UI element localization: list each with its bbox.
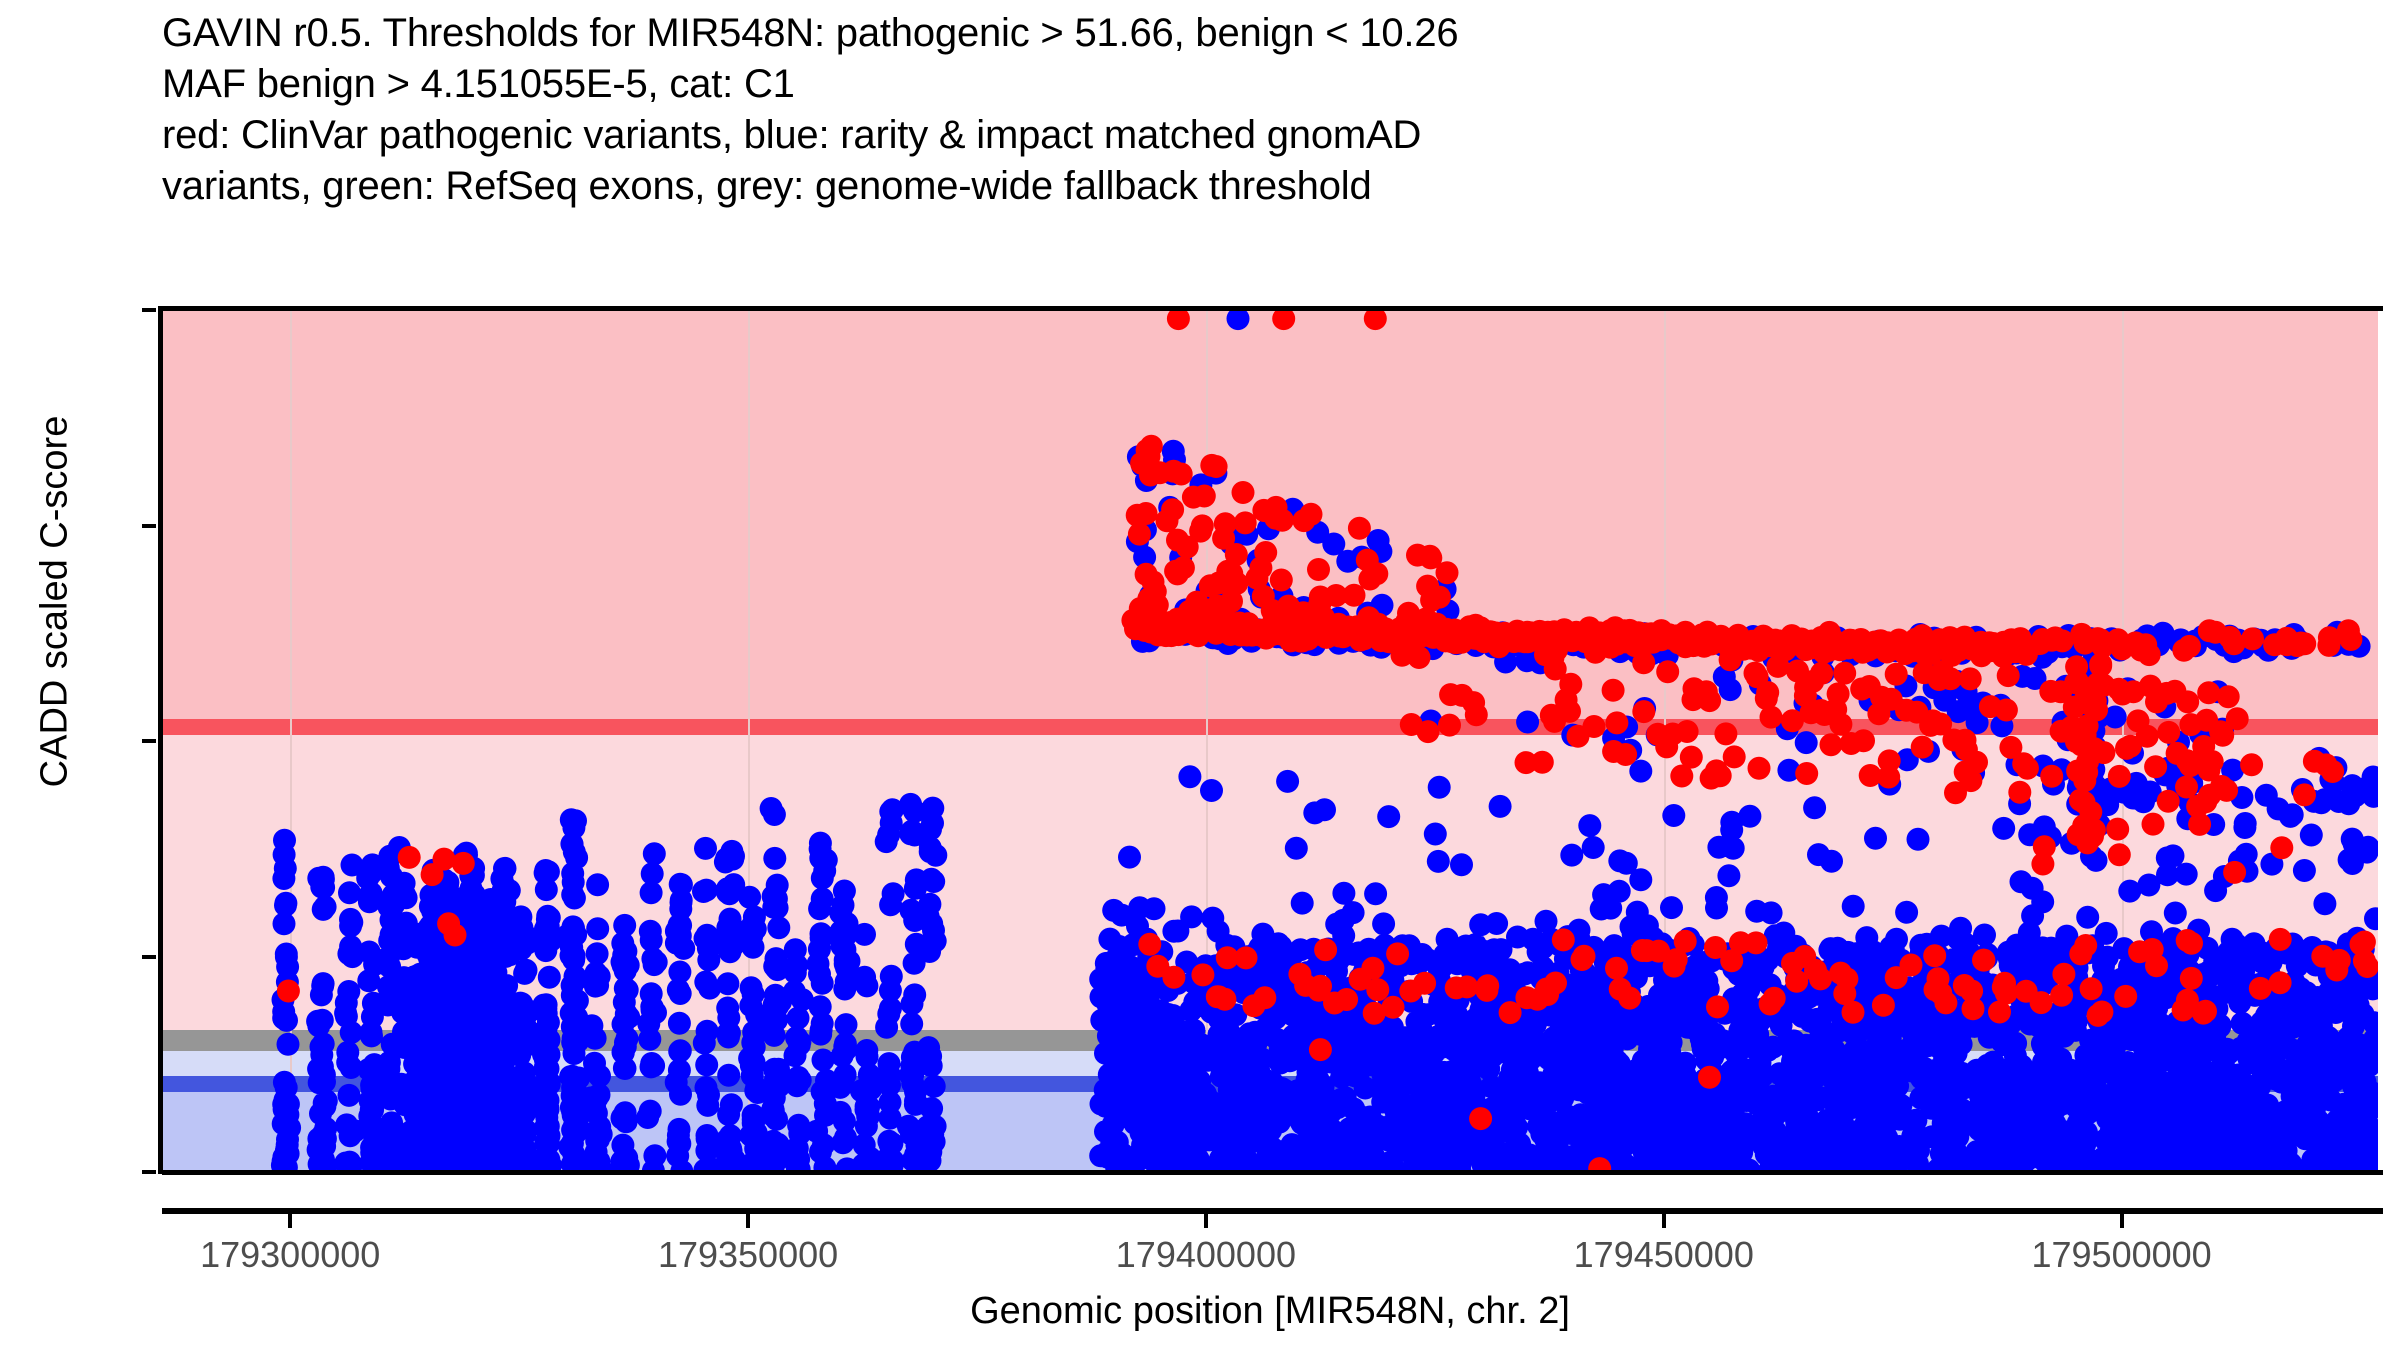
x-tick-label-179400000: 179400000 xyxy=(1116,1234,1296,1276)
x-axis-title: Genomic position [MIR548N, chr. 2] xyxy=(162,1290,2378,1333)
x-tick-label-179450000: 179450000 xyxy=(1574,1234,1754,1276)
y-tick-25 xyxy=(142,955,156,959)
y-tick-100 xyxy=(142,308,156,312)
plot-panel xyxy=(162,310,2378,1172)
y-tick-75 xyxy=(142,524,156,528)
gavin-cadd-scatter-figure: GAVIN r0.5. Thresholds for MIR548N: path… xyxy=(0,0,2400,1350)
x-tick-label-179300000: 179300000 xyxy=(200,1234,380,1276)
title-line-2: MAF benign > 4.151055E-5, cat: C1 xyxy=(162,59,2162,110)
chart-title: GAVIN r0.5. Thresholds for MIR548N: path… xyxy=(162,8,2162,212)
x-tick-179500000 xyxy=(2120,1214,2124,1228)
x-tick-label-179500000: 179500000 xyxy=(2031,1234,2211,1276)
panel-bottom-axis-line xyxy=(162,1170,2383,1175)
scatter-points-layer xyxy=(162,310,2378,1172)
x-axis-spine xyxy=(162,1208,2383,1214)
title-line-1: GAVIN r0.5. Thresholds for MIR548N: path… xyxy=(162,8,2162,59)
x-tick-179450000 xyxy=(1662,1214,1666,1228)
x-tick-179350000 xyxy=(746,1214,750,1228)
y-tick-50 xyxy=(142,739,156,743)
title-line-4: variants, green: RefSeq exons, grey: gen… xyxy=(162,161,2162,212)
x-tick-179400000 xyxy=(1204,1214,1208,1228)
y-tick-0 xyxy=(142,1170,156,1174)
y-axis-title: CADD scaled C-score xyxy=(34,252,77,952)
title-line-3: red: ClinVar pathogenic variants, blue: … xyxy=(162,110,2162,161)
panel-left-axis-line xyxy=(158,306,163,1174)
x-tick-label-179350000: 179350000 xyxy=(658,1234,838,1276)
panel-top-axis-line xyxy=(162,306,2383,311)
x-tick-179300000 xyxy=(288,1214,292,1228)
